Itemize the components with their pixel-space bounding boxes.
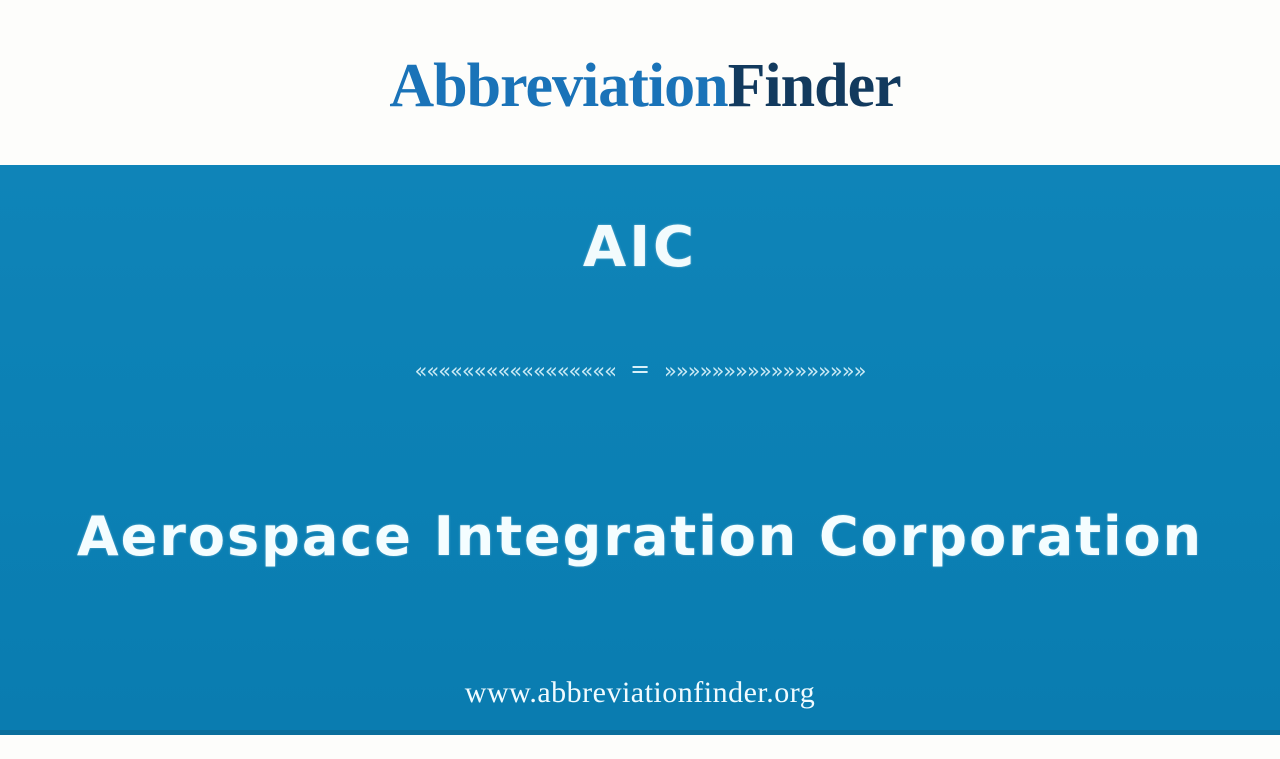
site-logo[interactable]: AbbreviationFinder [389, 55, 900, 117]
page-root: AbbreviationFinder AIC «««««««««««««««««… [0, 0, 1280, 759]
chevrons-right-icon: »»»»»»»»»»»»»»»»» [664, 359, 865, 383]
logo-text-finder: Finder [728, 52, 901, 120]
chevrons-left-icon: ««««««««««««««««« [415, 359, 616, 383]
definition-card: AIC «««««««««««««««««=»»»»»»»»»»»»»»»»» … [0, 165, 1280, 735]
footer-band [0, 735, 1280, 759]
logo-text-abbreviation: Abbreviation [389, 52, 727, 120]
equals-sign: = [616, 357, 664, 381]
divider-chevrons: «««««««««««««««««=»»»»»»»»»»»»»»»»» [0, 357, 1280, 382]
site-url-text[interactable]: www.abbreviationfinder.org [0, 678, 1280, 708]
abbreviation-title: AIC [0, 220, 1280, 276]
site-header: AbbreviationFinder [0, 0, 1280, 165]
definition-text: Aerospace Integration Corporation [0, 510, 1280, 564]
